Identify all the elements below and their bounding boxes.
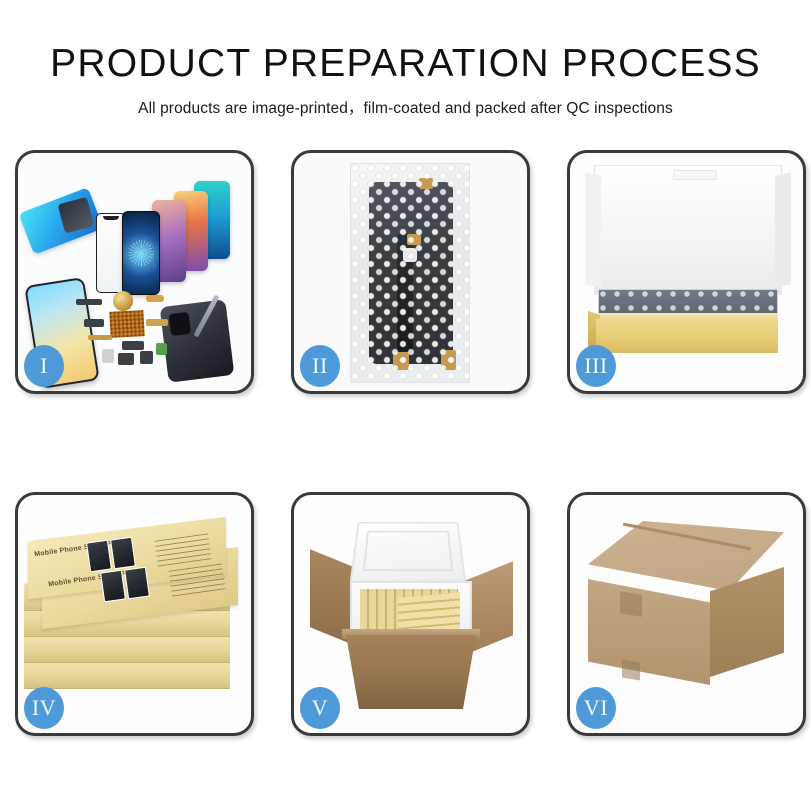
page-header: PRODUCT PREPARATION PROCESS All products… (0, 0, 811, 118)
bubble-wrap-bag-icon (350, 163, 470, 383)
process-step-card-2[interactable]: II (291, 150, 530, 394)
phone-backplate-icon (160, 299, 235, 382)
box-layer-4-icon (24, 635, 230, 663)
part-gold-flex-icon (146, 295, 164, 302)
connector-grid-icon (109, 310, 144, 338)
part-gold-connector-icon (146, 319, 168, 326)
process-step-card-1[interactable]: I (15, 150, 254, 394)
part-sim-tray-icon (102, 349, 114, 363)
process-step-card-4[interactable]: Mobile Phone Spare Parts Mobile Phone Sp… (15, 492, 254, 736)
step-badge-3: III (576, 345, 616, 387)
part-gold-strip-icon (88, 335, 112, 340)
step-badge-1: I (24, 345, 64, 387)
carton-body-icon (346, 635, 476, 709)
process-step-grid: I II III (15, 150, 801, 730)
box-print-thumbnail-1-icon (86, 540, 112, 573)
part-battery-icon (156, 343, 167, 355)
carton-tape-patch-bottom-icon (622, 659, 640, 680)
blue-screen-protector-icon (19, 187, 104, 255)
process-step-card-3[interactable]: III (567, 150, 806, 394)
box-layer-5-icon (24, 661, 230, 689)
box-print-thumbnail-2-icon (110, 537, 136, 570)
carton-front-face-icon (588, 579, 710, 685)
step-badge-5: V (300, 687, 340, 729)
step-badge-6: VI (576, 687, 616, 729)
part-speaker-icon (118, 353, 134, 365)
kraft-box-front-face-icon (596, 319, 778, 353)
part-taptic-icon (140, 351, 153, 364)
white-box-lid-icon (594, 165, 782, 295)
page-subtitle: All products are image-printed，film-coat… (0, 85, 811, 118)
foam-box-lid-icon (350, 522, 467, 583)
carton-tape-patch-top-icon (620, 591, 642, 617)
part-ribbon-icon (76, 299, 102, 305)
step-badge-2: II (300, 345, 340, 387)
process-step-card-6[interactable]: VI (567, 492, 806, 736)
box-print-thumbnail-3-icon (100, 570, 126, 603)
phone-display-blue-icon (122, 211, 160, 295)
lid-tab-icon (673, 170, 717, 180)
part-module-icon (84, 319, 104, 327)
page-title: PRODUCT PREPARATION PROCESS (0, 0, 811, 85)
process-step-card-5[interactable]: V (291, 492, 530, 736)
bubble-texture-icon (351, 164, 469, 382)
part-camera-icon (122, 341, 144, 350)
step-badge-4: IV (24, 687, 64, 729)
speaker-coil-icon (113, 291, 133, 311)
box-print-thumbnail-4-icon (124, 567, 150, 600)
box-stack-icon: Mobile Phone Spare Parts Mobile Phone Sp… (24, 511, 246, 719)
